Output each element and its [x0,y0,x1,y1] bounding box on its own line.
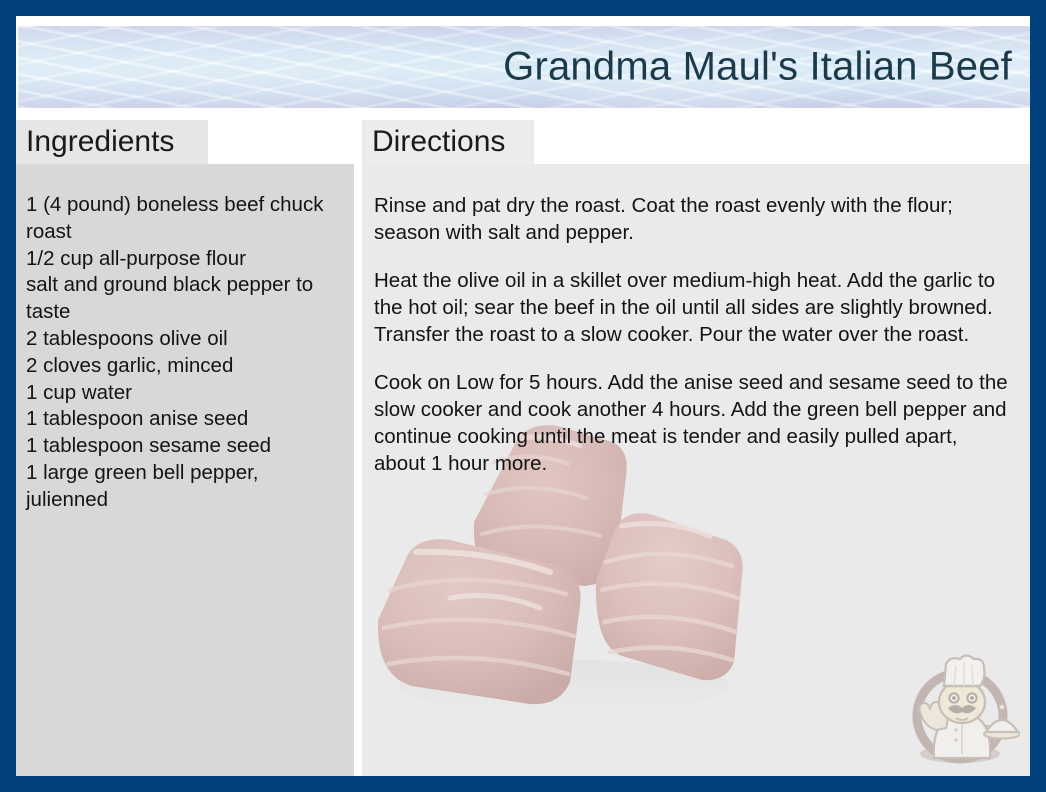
list-item: 1/2 cup all-purpose flour [26,246,340,273]
directions-header-tab: Directions [362,120,534,164]
directions-body: Rinse and pat dry the roast. Coat the ro… [362,164,1030,776]
list-item: 2 tablespoons olive oil [26,326,340,353]
list-item: 2 cloves garlic, minced [26,353,340,380]
chef-mascot-logo [900,650,1020,768]
list-item: 1 cup water [26,380,340,407]
title-banner: Grandma Maul's Italian Beef [18,26,1030,108]
ingredients-heading: Ingredients [26,127,174,157]
ingredients-panel: Ingredients 1 (4 pound) boneless beef ch… [16,120,354,776]
list-item: 1 tablespoon anise seed [26,406,340,433]
directions-panel: Directions [362,120,1030,776]
recipe-slide: Grandma Maul's Italian Beef Ingredients … [0,0,1046,792]
directions-text: Rinse and pat dry the roast. Coat the ro… [362,164,1030,477]
direction-paragraph: Cook on Low for 5 hours. Add the anise s… [374,369,1012,477]
ingredients-list: 1 (4 pound) boneless beef chuck roast 1/… [16,164,354,514]
ingredients-header-tab: Ingredients [16,120,208,164]
slide-content-area: Grandma Maul's Italian Beef Ingredients … [16,16,1030,776]
list-item: 1 large green bell pepper, julienned [26,460,340,514]
page-title: Grandma Maul's Italian Beef [503,45,1012,90]
list-item: 1 (4 pound) boneless beef chuck roast [26,192,340,246]
direction-paragraph: Rinse and pat dry the roast. Coat the ro… [374,192,1012,246]
list-item: 1 tablespoon sesame seed [26,433,340,460]
ingredients-body: 1 (4 pound) boneless beef chuck roast 1/… [16,164,354,776]
direction-paragraph: Heat the olive oil in a skillet over med… [374,267,1012,348]
list-item: salt and ground black pepper to taste [26,272,340,326]
recipe-columns: Ingredients 1 (4 pound) boneless beef ch… [16,120,1030,776]
directions-heading: Directions [372,127,505,157]
